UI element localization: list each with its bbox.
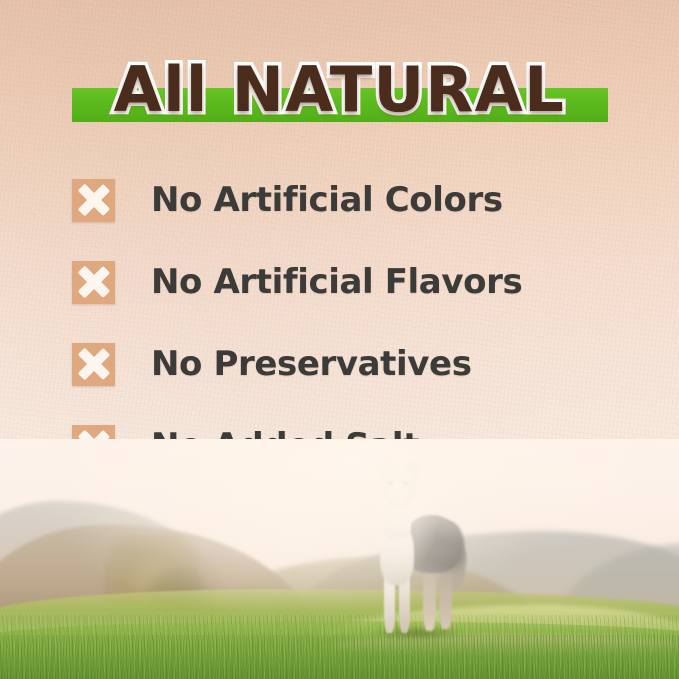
claim-row: No Artificial Flavors [72,258,632,306]
claim-row: No Artificial Colors [72,176,632,224]
dog-back-leg-right [439,565,452,629]
dog-back-leg-left [423,565,436,631]
dog-eye-right [403,481,408,485]
dog-eye-left [388,481,393,485]
title-block: All NATURAL All NATURAL [0,48,679,132]
x-mark-icon [72,261,115,304]
dog [363,461,467,639]
dog-snout [389,485,408,505]
claim-row: No Preservatives [72,340,632,388]
poster-title: All NATURAL [0,48,679,132]
product-feature-poster: All NATURAL All NATURAL No Artificial Co… [0,0,679,679]
foreground-grass-blades [0,635,679,679]
claim-label: No Artificial Flavors [151,262,522,302]
claim-label: No Preservatives [151,344,472,384]
landscape-photo [0,439,679,679]
x-mark-icon [72,179,115,222]
claim-label: No Artificial Colors [151,180,503,220]
x-mark-icon [72,343,115,386]
